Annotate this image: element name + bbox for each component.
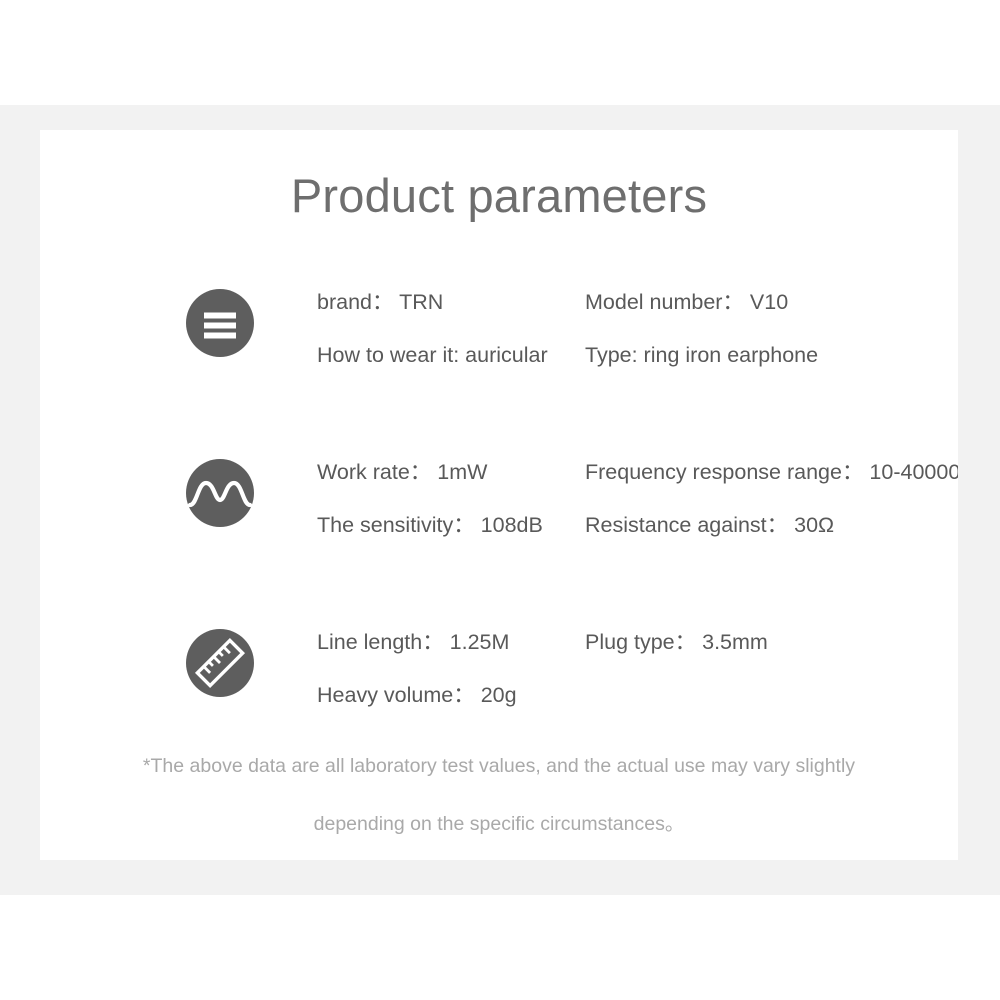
spec-row: brand： TRN Model number： V10 How to wear… — [40, 275, 958, 395]
spec-row: Line length： 1.25M Plug type： 3.5mm Heav… — [40, 615, 958, 735]
spec-value: The sensitivity： 108dB — [317, 510, 543, 540]
list-lines-icon — [186, 289, 254, 357]
spec-value: Work rate： 1mW — [317, 457, 487, 487]
spec-line: Work rate： 1mW Frequency response range：… — [317, 457, 958, 491]
spec-value: Resistance against： 30Ω — [585, 510, 834, 540]
ruler-icon — [186, 629, 254, 697]
spec-value: Plug type： 3.5mm — [585, 627, 768, 657]
spec-value: Type: ring iron earphone — [585, 340, 818, 370]
disclaimer-note: *The above data are all laboratory test … — [40, 755, 958, 836]
disclaimer-line: depending on the specific circumstances。 — [40, 807, 958, 836]
spec-value: Frequency response range： 10-40000Hz — [585, 457, 958, 487]
spec-value: How to wear it: auricular — [317, 340, 548, 370]
spec-value: Line length： 1.25M — [317, 627, 509, 657]
spec-line: Line length： 1.25M Plug type： 3.5mm — [317, 627, 958, 661]
spec-line: brand： TRN Model number： V10 — [317, 287, 958, 321]
spec-line: Heavy volume： 20g — [317, 680, 958, 714]
product-parameters-card: Product parameters brand： TRN Model numb… — [40, 130, 958, 860]
spec-value: Heavy volume： 20g — [317, 680, 517, 710]
spec-value: Model number： V10 — [585, 287, 788, 317]
spec-row: Work rate： 1mW Frequency response range：… — [40, 445, 958, 565]
page-title: Product parameters — [40, 168, 958, 223]
disclaimer-line: *The above data are all laboratory test … — [40, 755, 958, 778]
sound-wave-icon — [186, 459, 254, 527]
spec-line: The sensitivity： 108dB Resistance agains… — [317, 510, 958, 544]
spec-line: How to wear it: auricular Type: ring iro… — [317, 340, 958, 374]
spec-value: brand： TRN — [317, 287, 443, 317]
